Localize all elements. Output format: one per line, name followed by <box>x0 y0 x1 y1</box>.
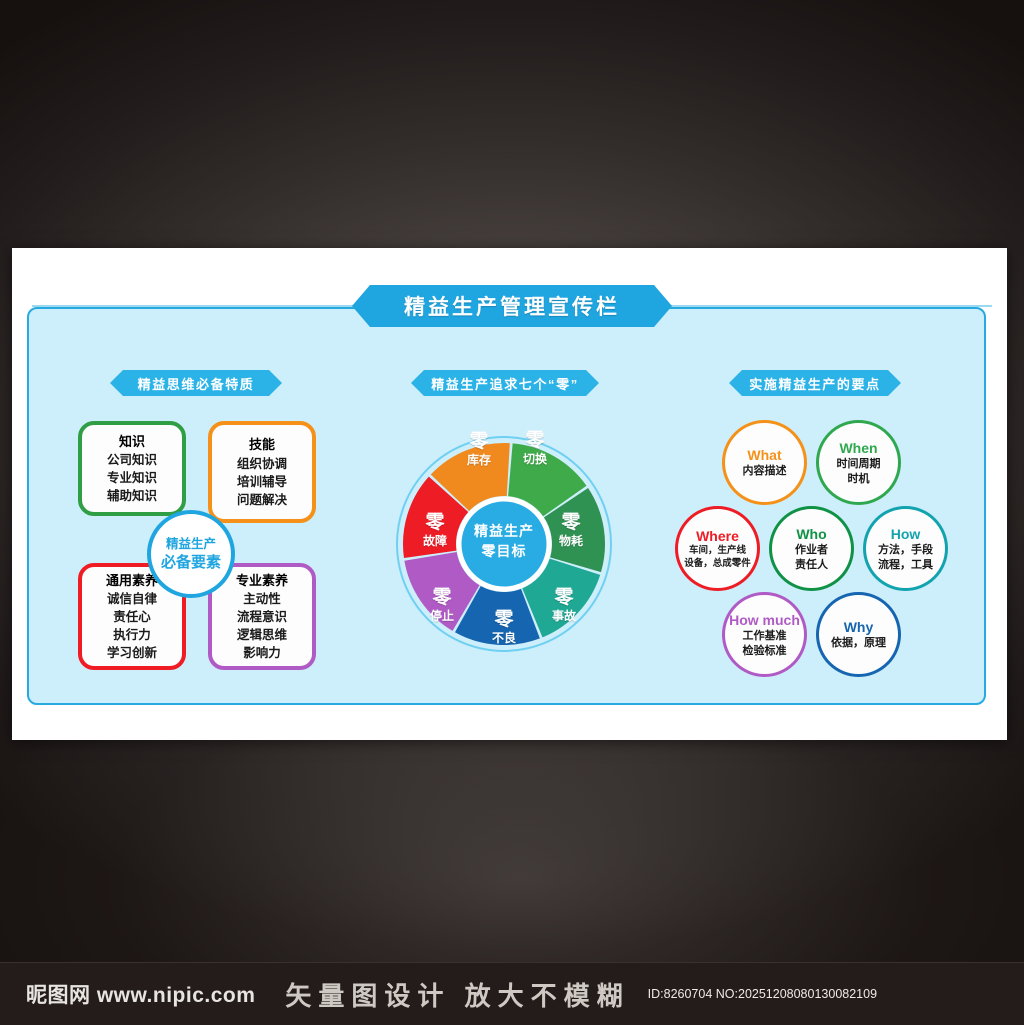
w-circle-line: 工作基准 <box>743 629 787 644</box>
quadrant-card-item: 专业知识 <box>107 469 157 487</box>
w-circle-where: Where 车间，生产线 设备，总成零件 <box>675 506 760 591</box>
w-circle-line: 责任人 <box>795 558 828 573</box>
quadrant-card-title: 专业素养 <box>236 571 288 591</box>
poster-title: 精益生产管理宣传栏 <box>404 291 620 321</box>
quadrant-card-title: 通用素养 <box>106 571 158 591</box>
w-circle-en: Where <box>696 527 739 545</box>
w-circle-why: Why 依据，原理 <box>816 592 901 677</box>
w-circle-en: What <box>747 446 781 464</box>
w-circle-line: 依据，原理 <box>831 636 886 651</box>
w-circle-en: Who <box>796 525 826 543</box>
w-circle-en: Why <box>844 618 874 636</box>
section-header-right: 实施精益生产的要点 <box>729 370 901 396</box>
w-circle-what: What 内容描述 <box>722 420 807 505</box>
section-header-left-label: 精益思维必备特质 <box>138 374 255 393</box>
w-circle-how-much: How much 工作基准 检验标准 <box>722 592 807 677</box>
watermark-footer: 昵图网 www.nipic.com 矢量图设计 放大不模糊 ID:8260704… <box>0 962 1024 1025</box>
poster-stage: 精益生产管理宣传栏 精益思维必备特质 精益生产追求七个“零” 实施精益生产的要点… <box>0 0 1024 1024</box>
quadrant-card-item: 流程意识 <box>237 608 287 626</box>
w-circle-en: When <box>839 439 877 457</box>
watermark-site: 昵图网 www.nipic.com <box>26 979 255 1009</box>
poster-title-banner: 精益生产管理宣传栏 <box>352 285 672 327</box>
seven-zeros-wheel: 零 库存 零 切换 零 物耗 零 事故 零 不良 零 停止 零 故障 精益生产 <box>395 410 613 678</box>
quadrant-card-title: 技能 <box>249 435 275 455</box>
w-circle-who: Who 作业者 责任人 <box>769 506 854 591</box>
quadrant-card-item: 主动性 <box>243 590 281 608</box>
w-circle-line: 时机 <box>848 472 870 487</box>
watermark-slogan: 矢量图设计 放大不模糊 <box>285 976 629 1013</box>
wheel-center-line2: 零目标 <box>454 542 554 562</box>
quadrant-card-item: 责任心 <box>113 608 151 626</box>
section-header-center-label: 精益生产追求七个“零” <box>431 374 579 393</box>
w-circle-en: How much <box>729 611 800 629</box>
quadrant-card-item: 培训辅导 <box>237 473 287 491</box>
left-hub-circle: 精益生产 必备要素 <box>147 510 235 598</box>
quadrant-card-item: 公司知识 <box>107 451 157 469</box>
quadrant-card-knowledge: 知识 公司知识 专业知识 辅助知识 <box>78 421 186 516</box>
w-circle-line: 作业者 <box>795 543 828 558</box>
w-circle-line: 方法，手段 <box>878 543 933 558</box>
w-circle-line: 内容描述 <box>743 464 787 479</box>
section-header-right-label: 实施精益生产的要点 <box>749 374 880 393</box>
wheel-center-line1: 精益生产 <box>454 522 554 542</box>
w-circle-line: 时间周期 <box>837 457 881 472</box>
w-circle-line: 车间，生产线 <box>689 545 746 558</box>
quadrant-card-item: 辅助知识 <box>107 487 157 505</box>
w-circle-en: How <box>891 525 921 543</box>
w-circle-how: How 方法，手段 流程，工具 <box>863 506 948 591</box>
quadrant-card-item: 学习创新 <box>107 644 157 662</box>
w-circle-line: 流程，工具 <box>878 558 933 573</box>
quadrant-card-title: 知识 <box>119 432 145 452</box>
section-header-left: 精益思维必备特质 <box>110 370 282 396</box>
title-area: 精益生产管理宣传栏 <box>352 285 672 327</box>
section-header-center: 精益生产追求七个“零” <box>411 370 599 396</box>
w-circle-when: When 时间周期 时机 <box>816 420 901 505</box>
wheel-center-label: 精益生产 零目标 <box>454 522 554 561</box>
w-circle-line: 设备，总成零件 <box>684 558 751 571</box>
left-hub-line1: 精益生产 <box>166 536 216 553</box>
quadrant-card-item: 诚信自律 <box>107 590 157 608</box>
quadrant-card-skill: 技能 组织协调 培训辅导 问题解决 <box>208 421 316 523</box>
quadrant-card-item: 问题解决 <box>237 491 287 509</box>
w-circle-line: 检验标准 <box>743 644 787 659</box>
left-hub-line2: 必备要素 <box>161 553 221 573</box>
quadrant-card-item: 影响力 <box>243 644 281 662</box>
watermark-id: ID:8260704 NO:20251208080130082109 <box>648 987 877 1001</box>
quadrant-card-item: 组织协调 <box>237 455 287 473</box>
quadrant-card-item: 执行力 <box>113 626 151 644</box>
quadrant-card-item: 逻辑思维 <box>237 626 287 644</box>
